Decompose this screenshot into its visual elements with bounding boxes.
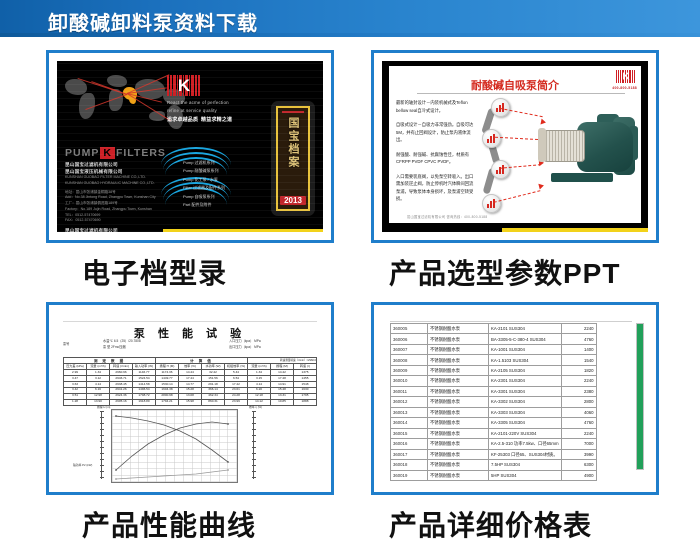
curve-point — [227, 461, 229, 463]
cell-name: 不锈钢耐酸水泵 — [428, 418, 489, 428]
price-frame: 360005 不锈钢耐酸水泵 KA-2101 SUS304 2240 36000… — [371, 302, 659, 495]
cell-price: 2240 — [561, 324, 596, 334]
cell-model: 5HP SUS304 — [489, 470, 562, 480]
cell-id: 360006 — [391, 334, 428, 344]
table-row[interactable]: 360005 不锈钢耐酸水泵 KA-2101 SUS304 2240 — [391, 324, 597, 334]
chart-curves — [112, 410, 237, 482]
cell-price: 2240 — [561, 428, 596, 438]
table-row[interactable]: 360009 不锈钢耐酸水泵 KA-2105 SUS304 1820 — [391, 365, 597, 375]
bar-chart-icon — [491, 160, 510, 179]
ppt-frame: 耐酸碱自吸泵简介 K — [371, 50, 659, 243]
cell-model: KA-2105 SUS304 — [489, 365, 562, 375]
table-row[interactable]: 360015 不锈钢耐酸水泵 KA-2101-220V SUS304 2240 — [391, 428, 597, 438]
ppt-text-block: 最新的轴封设计－内装机械式及Teflon bellow seal自冷式设计。 — [396, 99, 474, 114]
cell-model: KA-3301 SUS304 — [489, 386, 562, 396]
cell-name: 不锈钢耐酸水泵 — [428, 376, 489, 386]
table-row[interactable]: 360007 不锈钢耐酸水泵 KA-1001 SUS304 1400 — [391, 344, 597, 354]
chart-axis-power-label: 轴功率 P2 (kW) — [73, 463, 92, 467]
cell-name: 不锈钢耐酸水泵 — [428, 460, 489, 470]
cell-name: 不锈钢耐酸水泵 — [428, 407, 489, 417]
card-caption-ppt: 产品选型参数PPT — [371, 252, 661, 292]
cell-price: 1400 — [561, 344, 596, 354]
cell-id: 360015 — [391, 428, 428, 438]
cell-model: BA-3305-5-C-380-4 SUS304 — [489, 334, 562, 344]
card-caption-catalog: 电子档型录 — [46, 252, 336, 292]
ppt-image: 耐酸碱自吸泵简介 K — [382, 61, 648, 232]
cell-model: KA-3302 SUS304 — [489, 397, 562, 407]
price-table: 360005 不锈钢耐酸水泵 KA-2101 SUS304 2240 36000… — [390, 323, 597, 481]
cell-id: 360018 — [391, 460, 428, 470]
table-row[interactable]: 360010 不锈钢耐酸水泵 KA-2301 SUS304 2240 — [391, 376, 597, 386]
price-sheet: 360005 不锈钢耐酸水泵 KA-2101 SUS304 2240 36000… — [382, 313, 648, 484]
doc-meta-left: 泵号 — [63, 342, 69, 347]
cell-id: 360016 — [391, 439, 428, 449]
catalog-frame: PUMPKFILTERS 昆山国宝过滤机有限公司 昆山国宝液压机械有限公司 KU… — [46, 50, 334, 243]
table-cell: 1888 — [294, 399, 317, 405]
cell-id: 360011 — [391, 386, 428, 396]
table-cell: 1794.21 — [156, 399, 179, 405]
ppt-title: 耐酸碱自吸泵简介 — [471, 77, 559, 93]
k-logo-icon: K — [616, 70, 636, 83]
scrollbar-thumb[interactable] — [637, 324, 643, 469]
cell-id: 360010 — [391, 376, 428, 386]
cell-price: 4060 — [561, 407, 596, 417]
table-cell: 1.28 — [64, 399, 87, 405]
table-cell: 23.99 — [225, 399, 248, 405]
ppt-text-column: 最新的轴封设计－内装机械式及Teflon bellow seal自冷式设计。 自… — [396, 99, 474, 210]
cell-price: 2240 — [561, 376, 596, 386]
cell-model: KA-1001 SUS304 — [489, 344, 562, 354]
performance-table: 测 定 数 据 计 算 值 转速测量转速（r/min）=2960.0 压力差 (… — [63, 357, 317, 406]
cell-id: 360005 — [391, 324, 428, 334]
scanline-overlay — [57, 61, 323, 232]
curve-point — [227, 423, 229, 425]
card-price[interactable]: 360005 不锈钢耐酸水泵 KA-2101 SUS304 2240 36000… — [371, 302, 661, 544]
cell-id: 360017 — [391, 449, 428, 459]
card-curve[interactable]: 泵 性 能 试 验 泵号 水温℃ 6.5（25）/20.7808 泵 型 2Fm… — [46, 302, 336, 544]
cell-id: 360013 — [391, 407, 428, 417]
doc-meta-right-1: 入口压力（kpa） MPa — [229, 339, 261, 344]
curve-point — [115, 469, 117, 471]
cell-model: KA-3303 SUS304 — [489, 407, 562, 417]
cell-model: KA-1.5103 SUS304 — [489, 355, 562, 365]
cell-name: 不锈钢耐酸水泵 — [428, 386, 489, 396]
table-row[interactable]: 360013 不锈钢耐酸水泵 KA-3303 SUS304 4060 — [391, 407, 597, 417]
page-header: 卸酸碱卸料泵资料下载 — [0, 0, 700, 37]
table-row[interactable]: 360008 不锈钢耐酸水泵 KA-1.5103 SUS304 1540 — [391, 355, 597, 365]
cell-price: 3990 — [561, 449, 596, 459]
table-cell: 15.98 — [179, 399, 202, 405]
table-row[interactable]: 360012 不锈钢耐酸水泵 KA-3302 SUS304 2800 — [391, 397, 597, 407]
cell-name: 不锈钢耐酸水泵 — [428, 439, 489, 449]
chart-axis-right-label: 效率 η (%) — [249, 405, 262, 409]
price-image: 360005 不锈钢耐酸水泵 KA-2101 SUS304 2240 36000… — [382, 313, 648, 484]
table-row[interactable]: 360019 不锈钢耐酸水泵 5HP SUS304 4900 — [391, 470, 597, 480]
cell-name: 不锈钢耐酸水泵 — [428, 324, 489, 334]
cell-model: KF-25303 口径65、SUS304材质。 — [489, 449, 562, 459]
cell-price: 4760 — [561, 418, 596, 428]
catalog-cover: PUMPKFILTERS 昆山国宝过滤机有限公司 昆山国宝液压机械有限公司 KU… — [57, 61, 323, 232]
cell-id: 360007 — [391, 344, 428, 354]
chart-axis-right — [253, 411, 254, 479]
cell-price: 1820 — [561, 365, 596, 375]
ppt-text-block: 入口需要装底阀，以免泵空转吸入。出口需加装逆止阀，防止停机时汽体瞬间回流泵浦，导… — [396, 173, 474, 203]
cell-id: 360012 — [391, 397, 428, 407]
doc-meta-mid-1: 水温℃ 6.5（25）/20.7808 — [103, 339, 141, 344]
cell-name: 不锈钢耐酸水泵 — [428, 397, 489, 407]
curve-efficiency — [116, 422, 228, 470]
performance-chart — [111, 409, 238, 483]
vertical-scrollbar[interactable] — [636, 323, 644, 470]
cell-name: 不锈钢耐酸水泵 — [428, 334, 489, 344]
ppt-text-block: 自吸式设计－自吸力非常强劲。自吸可达5M，并有止回阀设计，防止泵内液体流出。 — [396, 121, 474, 144]
doc-meta-right-2: 出口压力（kpa） MPa — [229, 345, 261, 350]
card-caption-price: 产品详细价格表 — [371, 504, 661, 544]
table-row[interactable]: 360018 不锈钢耐酸水泵 7.5HP SUS304 6300 — [391, 460, 597, 470]
chart-axis-left-label: 扬程 H (m) — [97, 405, 110, 409]
cell-model: KA-2301 SUS304 — [489, 376, 562, 386]
doc-top-rule — [63, 321, 317, 322]
ppt-text-block: 耐强酸、耐强碱、抗腐蚀性佳，材质有CFRPP PVDF CPVC PVDF。 — [396, 151, 474, 166]
ppt-title-rule — [417, 93, 625, 94]
cell-price: 6300 — [561, 460, 596, 470]
curve-image: 泵 性 能 试 验 泵号 水温℃ 6.5（25）/20.7808 泵 型 2Fm… — [57, 313, 323, 484]
table-row[interactable]: 360014 不锈钢耐酸水泵 KA-3305 SUS304 4760 — [391, 418, 597, 428]
ppt-gold-bar — [502, 228, 648, 232]
doc-meta-mid-2: 泵 型 2Fmo压缩 — [103, 345, 126, 350]
k-logo-letter: K — [622, 71, 629, 82]
table-cell: 1918.80 — [133, 399, 156, 405]
table-cell: 860.31 — [202, 399, 225, 405]
catalog-image: PUMPKFILTERS 昆山国宝过滤机有限公司 昆山国宝液压机械有限公司 KU… — [57, 61, 323, 232]
sheet-top-edge — [390, 316, 632, 322]
cell-name: 不锈钢耐酸水泵 — [428, 428, 489, 438]
table-cell: 10.85 — [271, 399, 294, 405]
cell-id: 360019 — [391, 470, 428, 480]
cell-model: KA-2101-220V SUS304 — [489, 428, 562, 438]
curve-point — [227, 469, 229, 471]
cell-name: 不锈钢耐酸水泵 — [428, 365, 489, 375]
chart-axis-left — [101, 411, 102, 479]
card-ppt[interactable]: 耐酸碱自吸泵简介 K — [371, 50, 661, 292]
cell-id: 360009 — [391, 365, 428, 375]
cell-price: 1540 — [561, 355, 596, 365]
hotline-number: 400-800-5188 — [612, 86, 637, 90]
cell-model: KA-2101 SUS304 — [489, 324, 562, 334]
performance-document: 泵 性 能 试 验 泵号 水温℃ 6.5（25）/20.7808 泵 型 2Fm… — [57, 313, 323, 484]
cell-model: KA-2.5-310 功率7.5kw、口径65mm — [489, 439, 562, 449]
table-row[interactable]: 360011 不锈钢耐酸水泵 KA-3301 SUS304 2380 — [391, 386, 597, 396]
bottom-gold-bar — [163, 229, 323, 232]
ppt-footer: 昆山国宝过滤机有限公司 咨询热线：400-800-5188 — [407, 214, 487, 219]
cell-price: 7000 — [561, 439, 596, 449]
cell-price: 2380 — [561, 386, 596, 396]
page-title: 卸酸碱卸料泵资料下载 — [48, 7, 258, 36]
cell-model: KA-3305 SUS304 — [489, 418, 562, 428]
table-row[interactable]: 360006 不锈钢耐酸水泵 BA-3305-5-C-380-4 SUS304 … — [391, 334, 597, 344]
curve-frame: 泵 性 能 试 验 泵号 水温℃ 6.5（25）/20.7808 泵 型 2Fm… — [46, 302, 334, 495]
cell-price: 4760 — [561, 334, 596, 344]
cell-price: 4900 — [561, 470, 596, 480]
ppt-backdrop: 耐酸碱自吸泵简介 K — [382, 61, 648, 232]
cell-price: 2800 — [561, 397, 596, 407]
bar-chart-icon — [482, 194, 501, 213]
pump-illustration — [537, 110, 635, 188]
cell-name: 不锈钢耐酸水泵 — [428, 449, 489, 459]
cell-name: 不锈钢耐酸水泵 — [428, 344, 489, 354]
bar-chart-icon — [482, 129, 501, 148]
cell-id: 360014 — [391, 418, 428, 428]
cell-id: 360008 — [391, 355, 428, 365]
curve-point — [115, 478, 117, 480]
table-row[interactable]: 360016 不锈钢耐酸水泵 KA-2.5-310 功率7.5kw、口径65mm… — [391, 439, 597, 449]
cell-model: 7.5HP SUS304 — [489, 460, 562, 470]
card-catalog[interactable]: PUMPKFILTERS 昆山国宝过滤机有限公司 昆山国宝液压机械有限公司 KU… — [46, 50, 336, 292]
curve-power — [116, 470, 228, 479]
table-row[interactable]: 360017 不锈钢耐酸水泵 KF-25303 口径65、SUS304材质。 3… — [391, 449, 597, 459]
ppt-slide: 耐酸碱自吸泵简介 K — [389, 66, 641, 223]
cell-name: 不锈钢耐酸水泵 — [428, 355, 489, 365]
card-caption-curve: 产品性能曲线 — [46, 504, 336, 544]
cell-name: 不锈钢耐酸水泵 — [428, 470, 489, 480]
cards-grid: PUMPKFILTERS 昆山国宝过滤机有限公司 昆山国宝液压机械有限公司 KU… — [0, 44, 700, 552]
table-cell: 2905.16 — [110, 399, 133, 405]
curve-point — [115, 415, 117, 417]
